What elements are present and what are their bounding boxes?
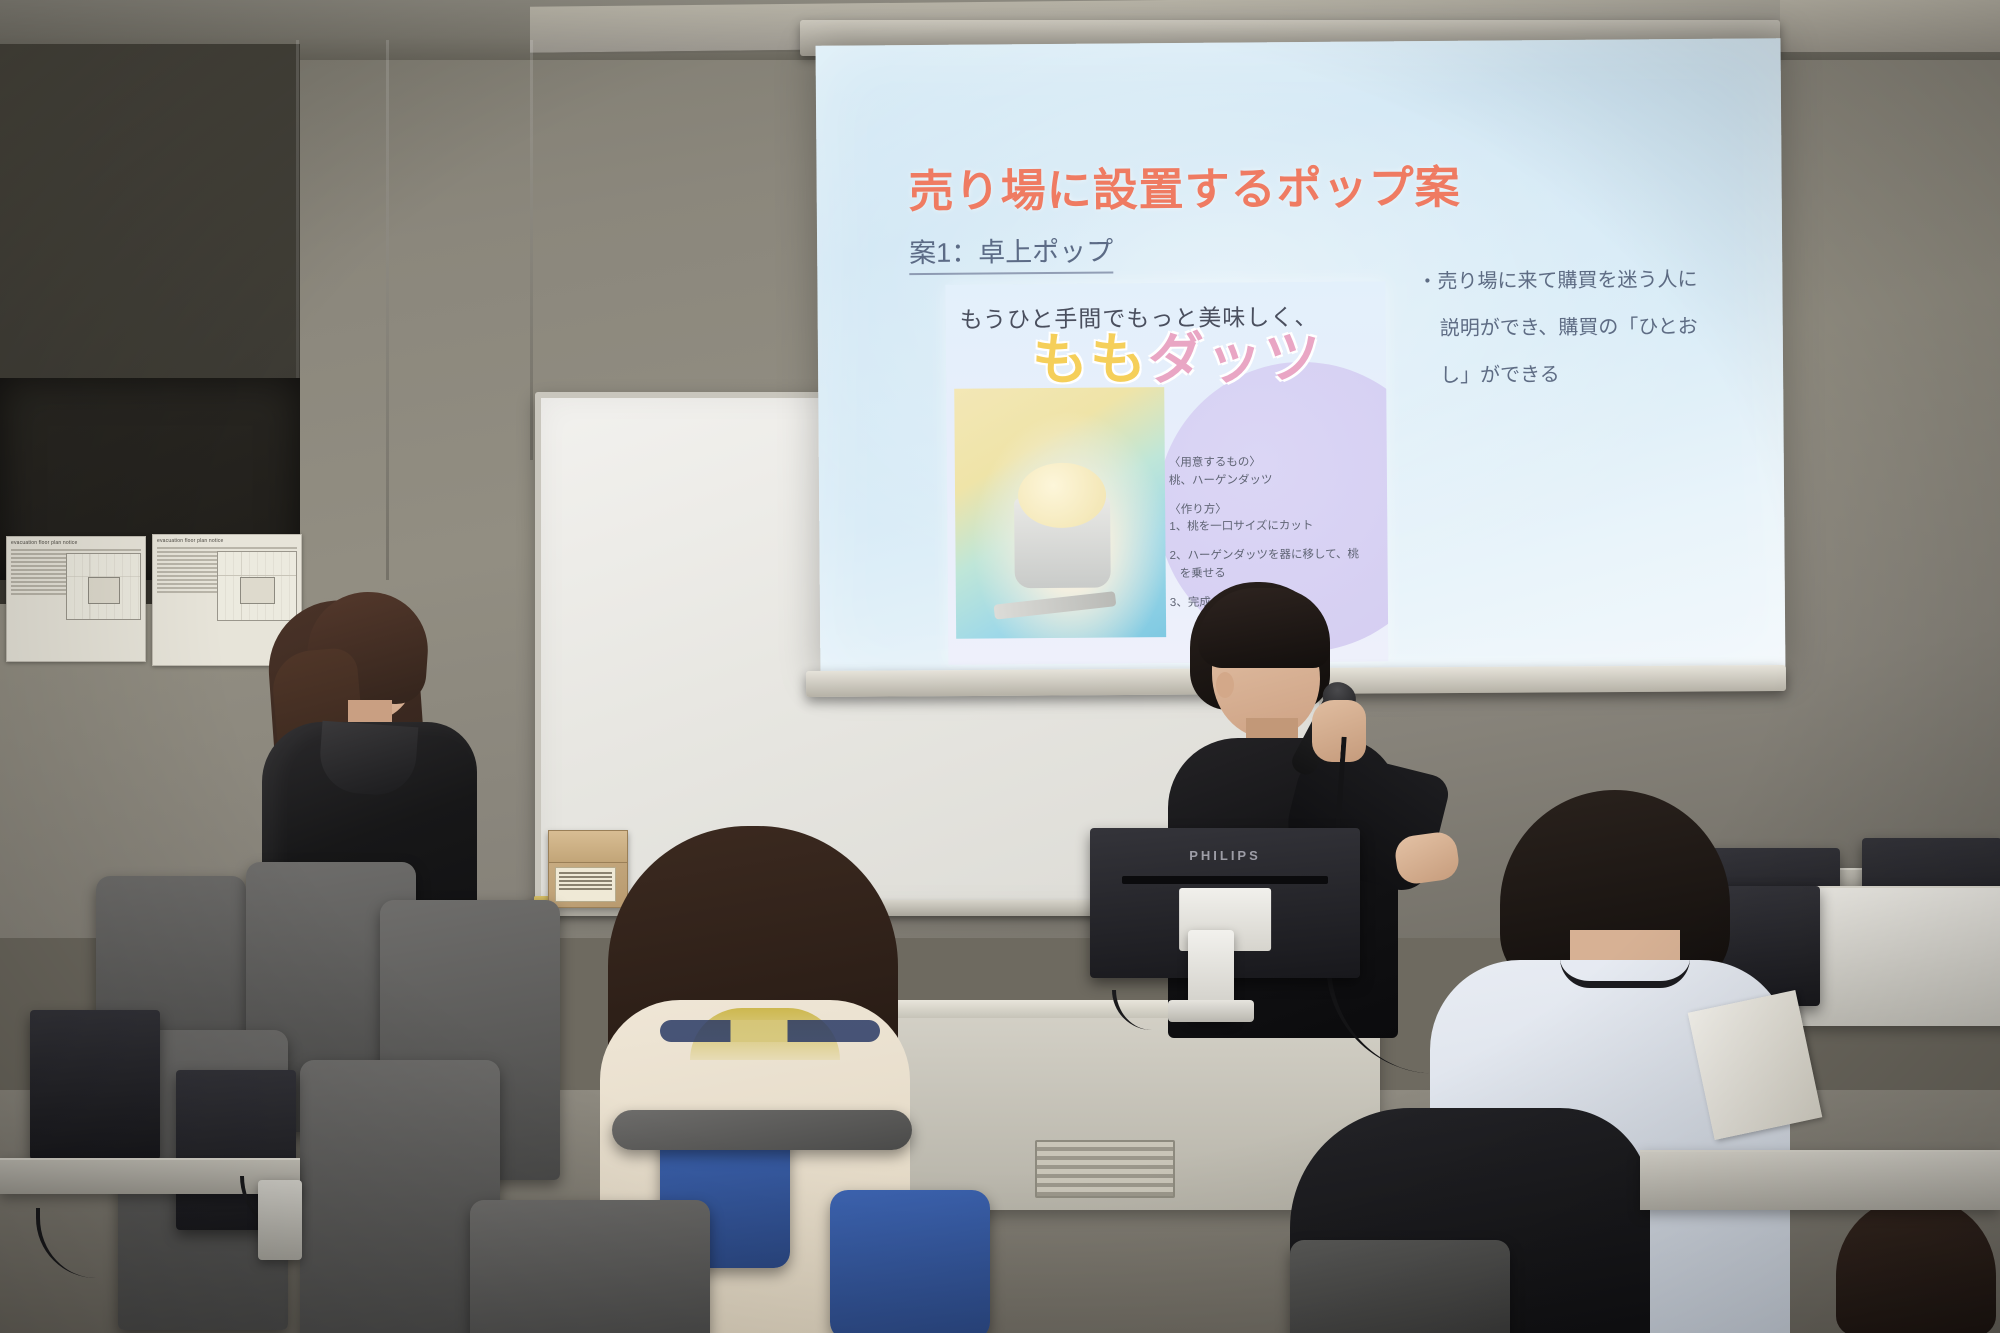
monitor-vent-slot xyxy=(1122,876,1327,884)
ceiling-beam-right xyxy=(1780,0,2000,52)
hair-fringe xyxy=(1198,588,1330,668)
cardboard-box-on-tray xyxy=(548,830,628,908)
slide-bullet-line-2: 説明ができ、購買の「ひとお xyxy=(1418,303,1748,353)
slide-bullet-list: ・売り場に来て購買を迷う人に 説明ができ、購買の「ひとお し」ができる xyxy=(1417,256,1748,400)
student-desk-far-right xyxy=(1640,1150,2000,1210)
method-step-1: 1、桃を一口サイズにカット xyxy=(1169,518,1377,537)
lecture-chair-blue[interactable] xyxy=(830,1190,990,1333)
wall-air-vent xyxy=(1035,1140,1175,1198)
notice-title: evacuation floor plan notice xyxy=(7,537,145,547)
monitor-brand-logo: PHILIPS xyxy=(1189,848,1261,863)
ear xyxy=(1216,672,1234,698)
method-step-2-cont: を乗せる xyxy=(1170,564,1378,583)
chair-back-rail[interactable] xyxy=(612,1110,912,1150)
pop-logo: ももダッツ xyxy=(1032,330,1322,388)
slide-title: 売り場に設置するポップ案 xyxy=(908,149,1708,220)
pop-logo-part-1: もも xyxy=(1032,327,1148,391)
slide-bullet-line-1: ・売り場に来て購買を迷う人に xyxy=(1417,256,1747,306)
method-heading: 〈作り方〉 xyxy=(1169,500,1377,519)
box-label xyxy=(555,867,616,902)
spoon-shape xyxy=(993,591,1116,620)
pop-method-block: 〈作り方〉 1、桃を一口サイズにカット xyxy=(1169,500,1377,537)
sweater-stripe xyxy=(660,1020,880,1042)
wall-seam xyxy=(386,40,389,580)
projection-screen: 売り場に設置するポップ案 案1：卓上ポップ もうひと手間でもっと美味しく、 もも… xyxy=(816,38,1786,680)
method-step-2: 2、ハーゲンダッツを器に移して、桃 xyxy=(1169,547,1377,566)
ingredients-heading: 〈用意するもの〉 xyxy=(1169,453,1377,472)
lecture-chair[interactable] xyxy=(470,1200,710,1333)
box-lid xyxy=(549,831,627,863)
student-monitor-left-1 xyxy=(30,1010,160,1160)
monitor-stand-arm xyxy=(258,1180,302,1260)
lecture-chair[interactable] xyxy=(1290,1240,1510,1333)
lanyard xyxy=(1560,958,1690,988)
pop-logo-part-2: ダッツ xyxy=(1148,326,1322,390)
pop-mockup-card: もうひと手間でもっと美味しく、 ももダッツ 〈用意するもの〉 桃、ハーゲンダッツ… xyxy=(945,281,1388,664)
floor-plan-diagram xyxy=(66,553,141,620)
floor-plan-diagram xyxy=(217,551,297,621)
classroom-photo-scene: evacuation floor plan notice evacuation … xyxy=(0,0,2000,1333)
pop-ingredients-block: 〈用意するもの〉 桃、ハーゲンダッツ xyxy=(1169,453,1377,490)
pop-dessert-photo xyxy=(954,387,1166,639)
notice-title: evacuation floor plan notice xyxy=(153,535,301,545)
pop-method-step2: 2、ハーゲンダッツを器に移して、桃 を乗せる xyxy=(1169,547,1377,584)
wall-seam xyxy=(530,40,533,460)
ingredients-list: 桃、ハーゲンダッツ xyxy=(1169,471,1377,490)
slide-subtitle: 案1：卓上ポップ xyxy=(909,229,1113,275)
slide-bullet-line-3: し」ができる xyxy=(1418,350,1748,400)
wall-notice-evacuation-plan: evacuation floor plan notice xyxy=(6,536,146,662)
